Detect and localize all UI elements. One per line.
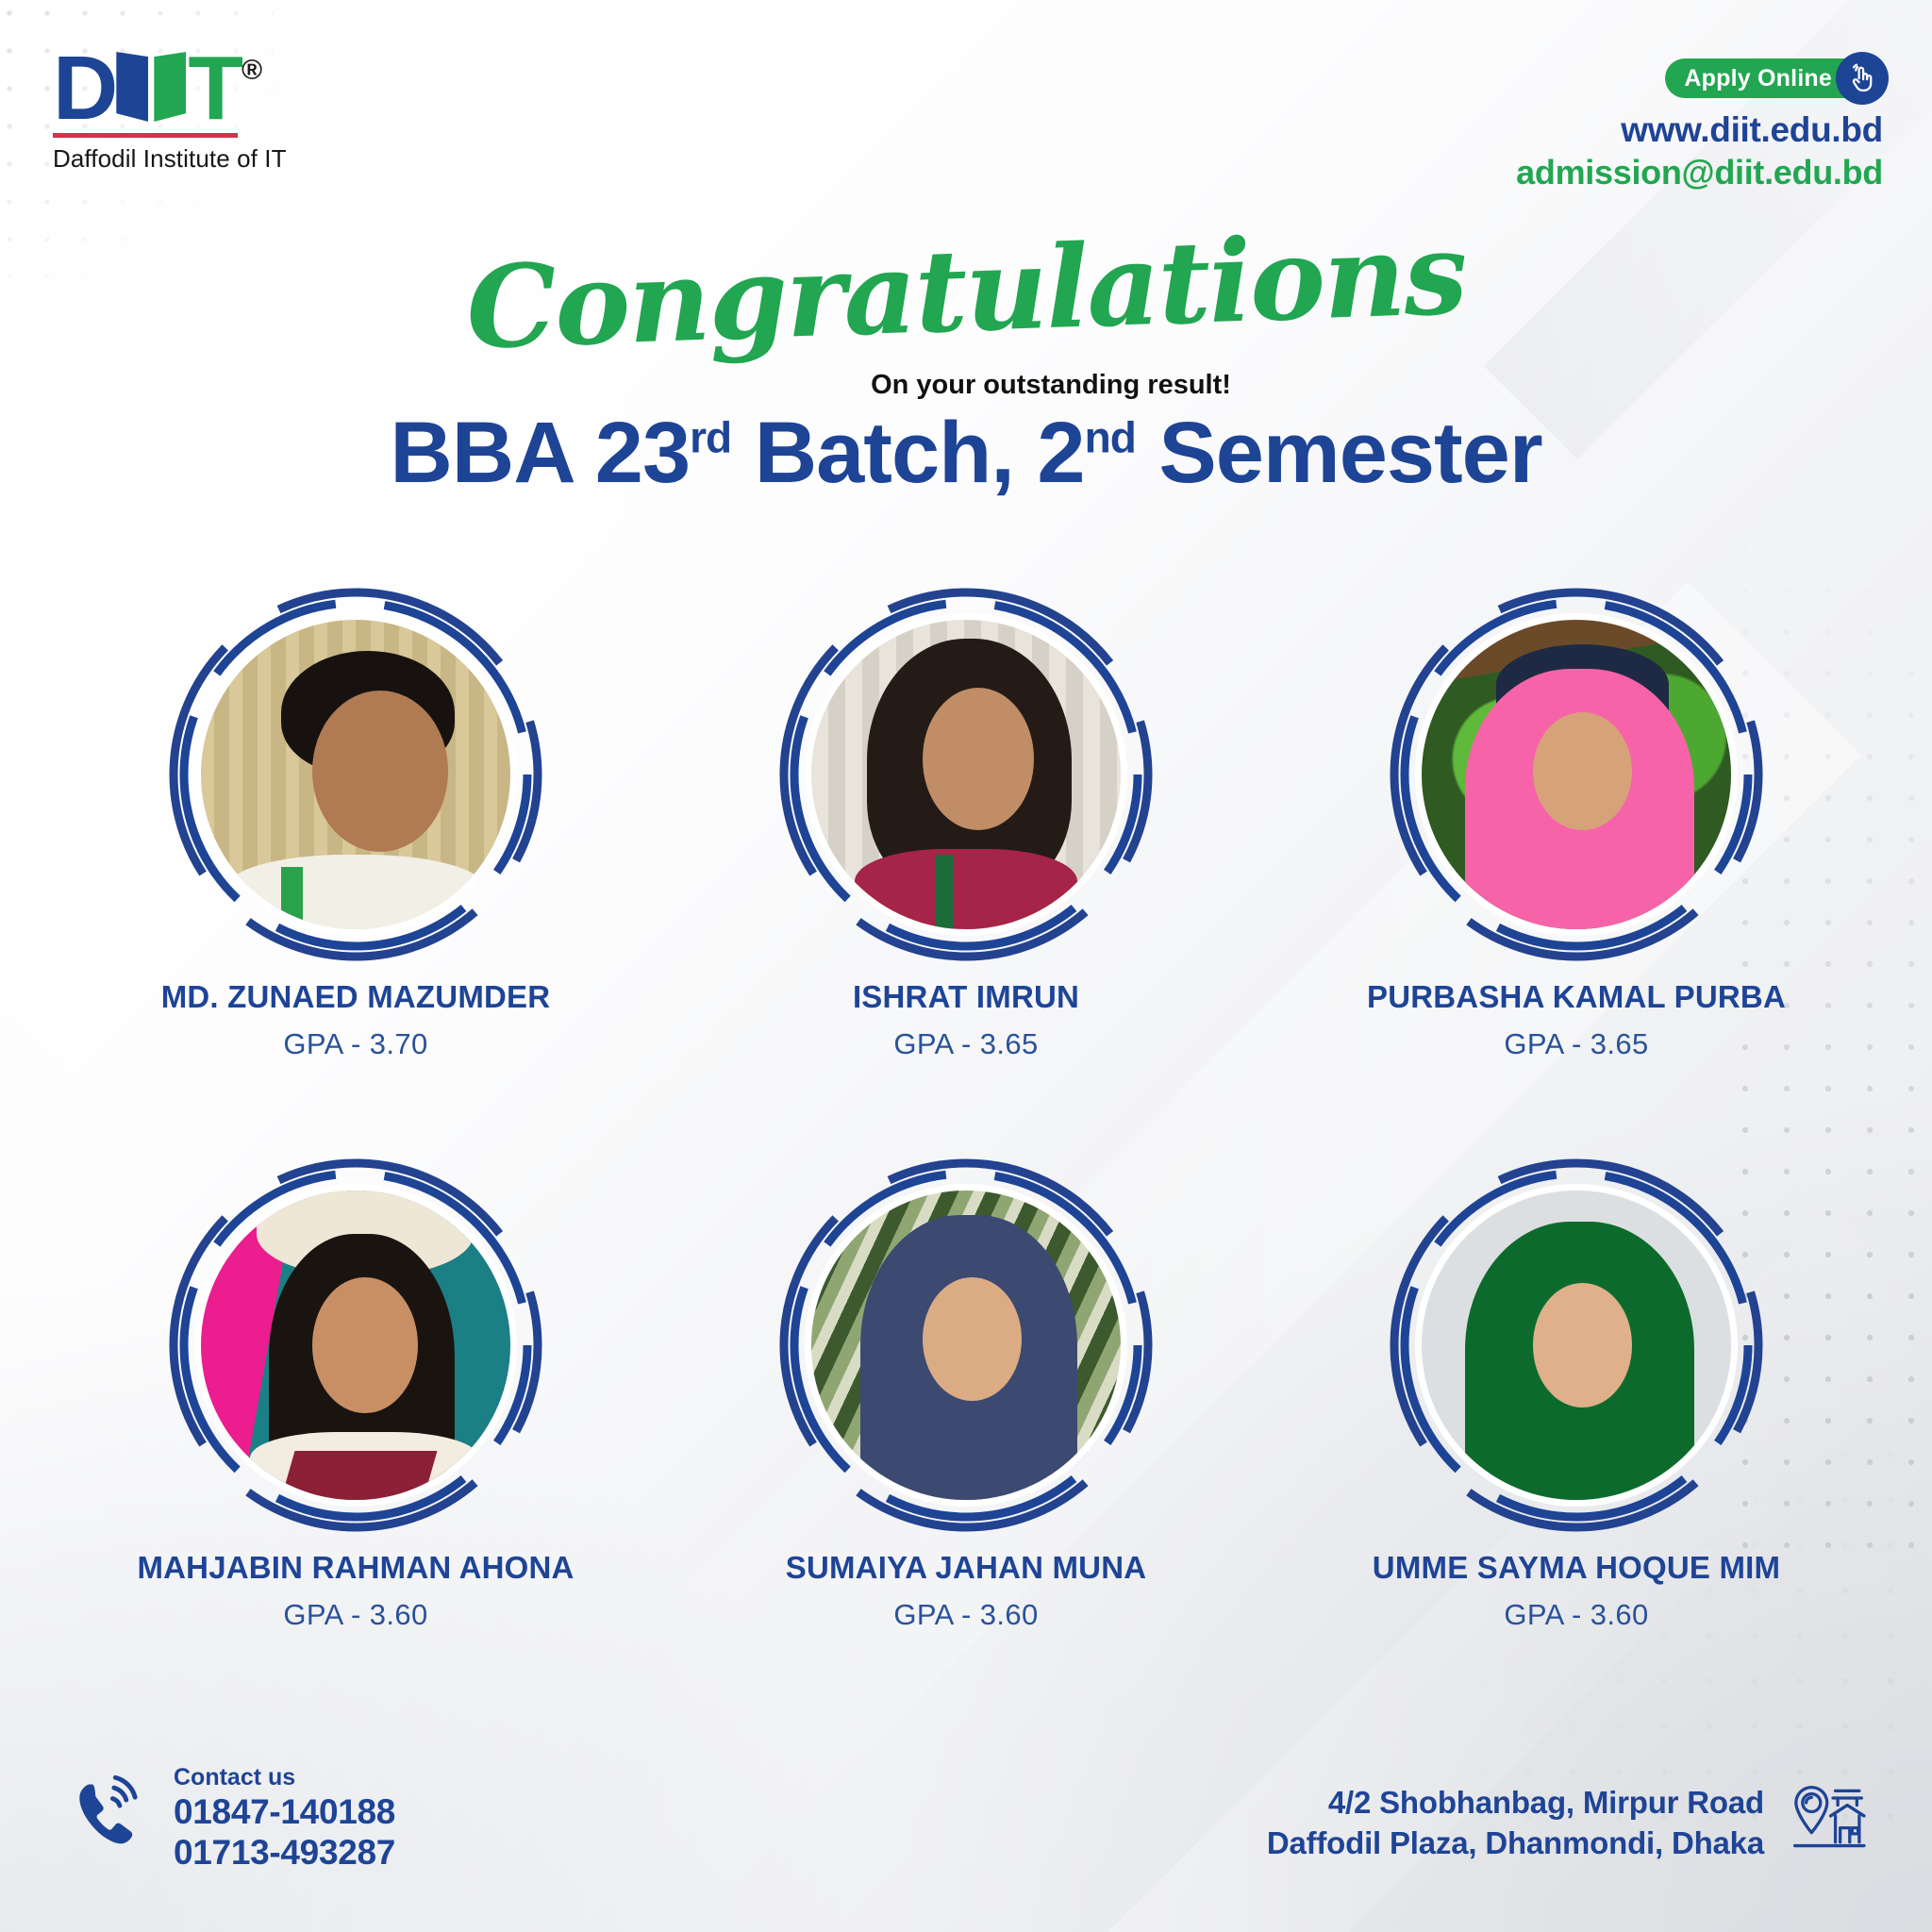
email-address[interactable]: admission@diit.edu.bd bbox=[1516, 153, 1883, 192]
photo-frame bbox=[1404, 602, 1749, 947]
address-line-1: 4/2 Shobhanbag, Mirpur Road bbox=[1267, 1783, 1764, 1824]
hero-subtitle: On your outstanding result! bbox=[0, 370, 1932, 401]
student-name: MD. ZUNAED MAZUMDER bbox=[161, 979, 551, 1015]
page-title: BBA 23rd Batch, 2nd Semester bbox=[0, 404, 1932, 503]
student-gpa: GPA - 3.60 bbox=[283, 1598, 427, 1632]
student-card[interactable]: ISHRAT IMRUN GPA - 3.65 bbox=[716, 602, 1216, 1061]
footer-address: 4/2 Shobhanbag, Mirpur Road Daffodil Pla… bbox=[1267, 1780, 1872, 1866]
students-row-2: MAHJABIN RAHMAN AHONA GPA - 3.60 bbox=[106, 1173, 1826, 1632]
open-book-icon bbox=[116, 52, 186, 122]
photo-frame bbox=[793, 602, 1139, 947]
student-card[interactable]: UMME SAYMA HOQUE MIM GPA - 3.60 bbox=[1326, 1173, 1826, 1632]
footer-contact: Contact us 01847-140188 01713-493287 bbox=[68, 1765, 395, 1874]
student-photo bbox=[194, 613, 517, 936]
registered-trademark-icon: ® bbox=[241, 55, 262, 87]
photo-frame bbox=[183, 602, 528, 947]
student-name: MAHJABIN RAHMAN AHONA bbox=[137, 1550, 574, 1586]
student-name: PURBASHA KAMAL PURBA bbox=[1367, 979, 1786, 1015]
touch-hand-icon bbox=[1836, 52, 1889, 105]
student-photo bbox=[805, 1184, 1127, 1507]
student-photo bbox=[194, 1184, 517, 1507]
logo-letter-t: T bbox=[188, 52, 241, 126]
footer-contact-text: Contact us 01847-140188 01713-493287 bbox=[174, 1765, 395, 1874]
student-name: ISHRAT IMRUN bbox=[853, 979, 1079, 1015]
location-building-icon bbox=[1785, 1780, 1872, 1866]
logo-tagline: Daffodil Institute of IT bbox=[53, 144, 287, 174]
website-url[interactable]: www.diit.edu.bd bbox=[1516, 110, 1883, 150]
apply-online-button[interactable]: Apply Online bbox=[1665, 58, 1883, 98]
address-text: 4/2 Shobhanbag, Mirpur Road Daffodil Pla… bbox=[1267, 1783, 1764, 1864]
student-card[interactable]: MD. ZUNAED MAZUMDER GPA - 3.70 bbox=[106, 602, 606, 1061]
poster-canvas: D T ® Daffodil Institute of IT Apply Onl… bbox=[0, 0, 1932, 1932]
phone-number-2[interactable]: 01713-493287 bbox=[174, 1832, 395, 1874]
student-name: UMME SAYMA HOQUE MIM bbox=[1373, 1550, 1780, 1586]
student-card[interactable]: PURBASHA KAMAL PURBA GPA - 3.65 bbox=[1326, 602, 1826, 1061]
students-row-1: MD. ZUNAED MAZUMDER GPA - 3.70 bbox=[106, 602, 1826, 1061]
header-contact-block: Apply Online www.diit.edu.bd admission@d… bbox=[1516, 58, 1883, 192]
student-photo bbox=[1415, 613, 1738, 936]
contact-us-label: Contact us bbox=[174, 1765, 395, 1791]
title-part-3: Semester bbox=[1136, 405, 1542, 501]
title-part-2: Batch, 2 bbox=[731, 405, 1084, 501]
students-grid: MD. ZUNAED MAZUMDER GPA - 3.70 bbox=[106, 602, 1826, 1632]
student-gpa: GPA - 3.65 bbox=[893, 1027, 1038, 1061]
photo-frame bbox=[183, 1173, 528, 1518]
title-part-1: BBA 23 bbox=[390, 405, 690, 501]
student-gpa: GPA - 3.60 bbox=[1504, 1598, 1648, 1632]
student-card[interactable]: MAHJABIN RAHMAN AHONA GPA - 3.60 bbox=[106, 1173, 606, 1632]
diit-logo: D T ® Daffodil Institute of IT bbox=[53, 49, 287, 174]
title-ordinal-2: nd bbox=[1085, 412, 1136, 461]
apply-online-label: Apply Online bbox=[1684, 65, 1832, 92]
student-card[interactable]: SUMAIYA JAHAN MUNA GPA - 3.60 bbox=[716, 1173, 1216, 1632]
logo-letter-d: D bbox=[53, 52, 116, 126]
congratulations-script: Congratulations bbox=[0, 191, 1932, 391]
address-line-2: Daffodil Plaza, Dhanmondi, Dhaka bbox=[1267, 1824, 1764, 1864]
student-gpa: GPA - 3.70 bbox=[283, 1027, 427, 1061]
title-ordinal-1: rd bbox=[690, 412, 731, 461]
student-gpa: GPA - 3.60 bbox=[893, 1598, 1038, 1632]
logo-mark: D T ® bbox=[53, 49, 287, 126]
phone-number-1[interactable]: 01847-140188 bbox=[174, 1791, 395, 1833]
photo-frame bbox=[1404, 1173, 1749, 1518]
phone-ringing-icon bbox=[68, 1774, 155, 1865]
student-gpa: GPA - 3.65 bbox=[1504, 1027, 1648, 1061]
photo-frame bbox=[793, 1173, 1139, 1518]
student-photo bbox=[805, 613, 1127, 936]
student-photo bbox=[1415, 1184, 1738, 1507]
student-name: SUMAIYA JAHAN MUNA bbox=[786, 1550, 1147, 1586]
